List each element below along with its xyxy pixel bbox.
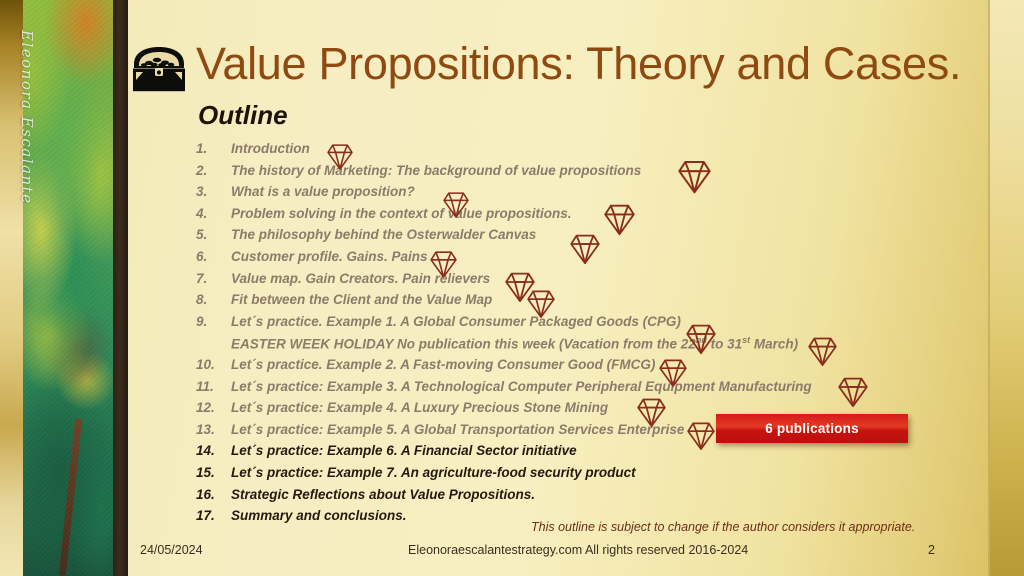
diamond-gem-icon [443, 190, 469, 219]
outline-item-number: 14. [196, 443, 226, 458]
diamond-gem-icon [637, 396, 666, 428]
painting-stem [59, 418, 82, 576]
footer-date: 24/05/2024 [140, 543, 203, 557]
decorative-leaf-painting [23, 0, 113, 576]
diamond-gem-icon [570, 232, 600, 266]
outline-item-number: 13. [196, 422, 226, 437]
page-title: Value Propositions: Theory and Cases. [196, 38, 961, 90]
outline-item-number: 10. [196, 357, 226, 372]
outline-item-number: 5. [196, 227, 226, 242]
outline-item-label: Problem solving in the context of value … [231, 206, 572, 221]
outline-item: 2.The history of Marketing: The backgrou… [196, 163, 986, 185]
outline-item-label: Let´s practice: Example 4. A Luxury Prec… [231, 400, 608, 415]
outline-item: 3.What is a value proposition? [196, 184, 986, 206]
diamond-gem-icon [686, 322, 716, 356]
outline-item-label: Let´s practice. Example 2. A Fast-moving… [231, 357, 655, 372]
outline-item-number: 4. [196, 206, 226, 221]
outline-item: 16.Strategic Reflections about Value Pro… [196, 487, 986, 509]
vertical-divider [113, 0, 128, 576]
outline-item-number: 6. [196, 249, 226, 264]
outline-item-number: 3. [196, 184, 226, 199]
outline-item: 8.Fit between the Client and the Value M… [196, 292, 986, 314]
outline-item-label: Let´s practice: Example 7. An agricultur… [231, 465, 636, 480]
diamond-gem-icon [838, 375, 868, 409]
outline-item-label: Let´s practice: Example 5. A Global Tran… [231, 422, 684, 437]
publications-badge-label: 6 publications [765, 421, 859, 436]
treasure-chest-icon [130, 44, 188, 92]
diamond-gem-icon [327, 142, 353, 171]
outline-item-number: 16. [196, 487, 226, 502]
disclaimer-note: This outline is subject to change if the… [531, 520, 915, 534]
diamond-gem-icon [808, 335, 837, 367]
outline-item-number: 8. [196, 292, 226, 307]
diamond-gem-icon [604, 202, 635, 237]
footer-page-number: 2 [928, 543, 935, 557]
outline-item: 4.Problem solving in the context of valu… [196, 206, 986, 228]
outline-item: 14.Let´s practice: Example 6. A Financia… [196, 443, 986, 465]
diamond-gem-icon [678, 158, 711, 195]
diamond-gem-icon [659, 357, 687, 388]
outline-item-label: The history of Marketing: The background… [231, 163, 641, 178]
outline-item-label: Strategic Reflections about Value Propos… [231, 487, 535, 502]
diamond-gem-icon [527, 288, 555, 319]
outline-item-number: 15. [196, 465, 226, 480]
diamond-gem-icon [687, 420, 715, 451]
outline-item-label: Introduction [231, 141, 310, 156]
publications-badge[interactable]: 6 publications [716, 414, 908, 443]
outline-item-number: 12. [196, 400, 226, 415]
outline-item: 7.Value map. Gain Creators. Pain relieve… [196, 271, 986, 293]
slide-canvas: Eleonora Escalante Value Propositions: T [0, 0, 1024, 576]
outline-item: 15.Let´s practice: Example 7. An agricul… [196, 465, 986, 487]
outline-item-label: What is a value proposition? [231, 184, 415, 199]
outline-item-number: 1. [196, 141, 226, 156]
outline-item-number: 11. [196, 379, 226, 394]
outline-item-label: Summary and conclusions. [231, 508, 407, 523]
outline-item-number: 9. [196, 314, 226, 329]
footer-copyright: Eleonoraescalantestrategy.com All rights… [408, 543, 748, 557]
outline-item-number: 17. [196, 508, 226, 523]
outline-list: 1.Introduction2.The history of Marketing… [196, 141, 986, 530]
outline-item-label: The philosophy behind the Osterwalder Ca… [231, 227, 536, 242]
section-heading: Outline [198, 100, 288, 131]
outline-item-label: Let´s practice. Example 1. A Global Cons… [231, 314, 681, 329]
outline-item-number: 2. [196, 163, 226, 178]
outline-item: 1.Introduction [196, 141, 986, 163]
diamond-gem-icon [430, 249, 457, 279]
outline-item-label: Let´s practice: Example 6. A Financial S… [231, 443, 577, 458]
outline-item-number: 7. [196, 271, 226, 286]
outline-item: EASTER WEEK HOLIDAY No publication this … [196, 335, 986, 357]
artist-signature: Eleonora Escalante [18, 30, 36, 210]
outline-item: 9.Let´s practice. Example 1. A Global Co… [196, 314, 986, 336]
right-gold-band [990, 0, 1024, 576]
outline-item-label: Fit between the Client and the Value Map [231, 292, 492, 307]
outline-item-label: Customer profile. Gains. Pains [231, 249, 428, 264]
outline-item-label: Let´s practice: Example 3. A Technologic… [231, 379, 812, 394]
